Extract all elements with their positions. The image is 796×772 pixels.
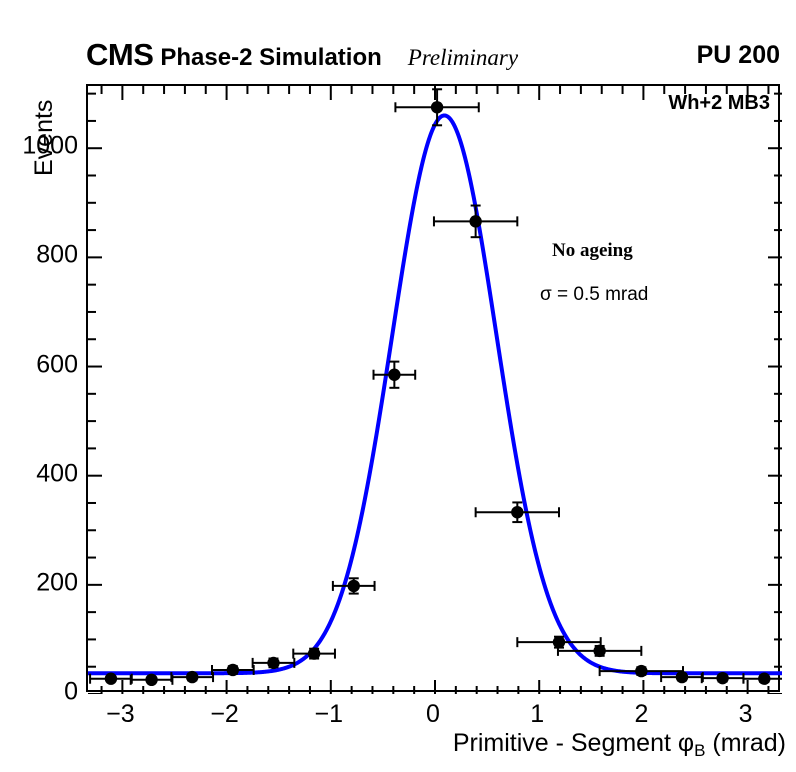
x-axis-title-subscript: B	[694, 741, 705, 760]
plot-frame: Wh+2 MB3 No ageing σ = 0.5 mrad	[86, 84, 780, 692]
x-tick-label: 1	[530, 700, 544, 729]
data-point	[511, 506, 523, 518]
y-tick-label: 0	[64, 678, 78, 707]
x-tick-label: −2	[210, 700, 239, 729]
data-point	[593, 645, 605, 657]
x-axis-title: Primitive - Segment φB (mrad)	[0, 729, 786, 761]
cms-logo: CMS	[86, 37, 153, 72]
data-point	[553, 636, 565, 648]
sigma-resolution-label: σ = 0.5 mrad	[540, 284, 648, 306]
plot-canvas: CMSPhase-2 SimulationPreliminary PU 200 …	[0, 0, 796, 772]
x-tick-label: 2	[634, 700, 648, 729]
x-tick-label: 3	[739, 700, 753, 729]
data-point	[145, 674, 157, 686]
data-point	[105, 673, 117, 685]
y-tick-label: 800	[36, 241, 78, 270]
x-axis-title-suffix: (mrad)	[705, 729, 786, 757]
data-point	[388, 369, 400, 381]
data-point	[186, 671, 198, 683]
gaussian-fit-curve	[88, 115, 782, 673]
data-point	[431, 101, 443, 113]
data-point	[227, 664, 239, 676]
data-point	[635, 665, 647, 677]
x-tick-label: −3	[106, 700, 135, 729]
cms-header-left: CMSPhase-2 SimulationPreliminary	[86, 40, 518, 70]
x-axis-title-symbol: φ	[678, 729, 694, 757]
y-axis-title: Events	[30, 100, 59, 176]
data-point	[469, 215, 481, 227]
data-point	[676, 671, 688, 683]
data-point	[267, 657, 279, 669]
chamber-label: Wh+2 MB3	[668, 92, 770, 115]
y-tick-label: 400	[36, 459, 78, 488]
pileup-label: PU 200	[697, 40, 780, 70]
data-point	[308, 647, 320, 659]
plot-graphics	[88, 86, 782, 694]
y-tick-label: 200	[36, 568, 78, 597]
data-point	[348, 580, 360, 592]
data-point	[716, 672, 728, 684]
data-point	[758, 673, 770, 685]
x-tick-label: 0	[426, 700, 440, 729]
x-axis-title-prefix: Primitive - Segment	[453, 729, 678, 757]
cms-status-preliminary: Preliminary	[408, 45, 518, 70]
axis-ticks	[88, 86, 782, 694]
cms-subtitle: Phase-2 Simulation	[160, 44, 381, 71]
x-tick-label: −1	[315, 700, 344, 729]
ageing-scenario-label: No ageing	[552, 240, 633, 262]
y-tick-label: 600	[36, 350, 78, 379]
data-points-group	[90, 89, 782, 686]
